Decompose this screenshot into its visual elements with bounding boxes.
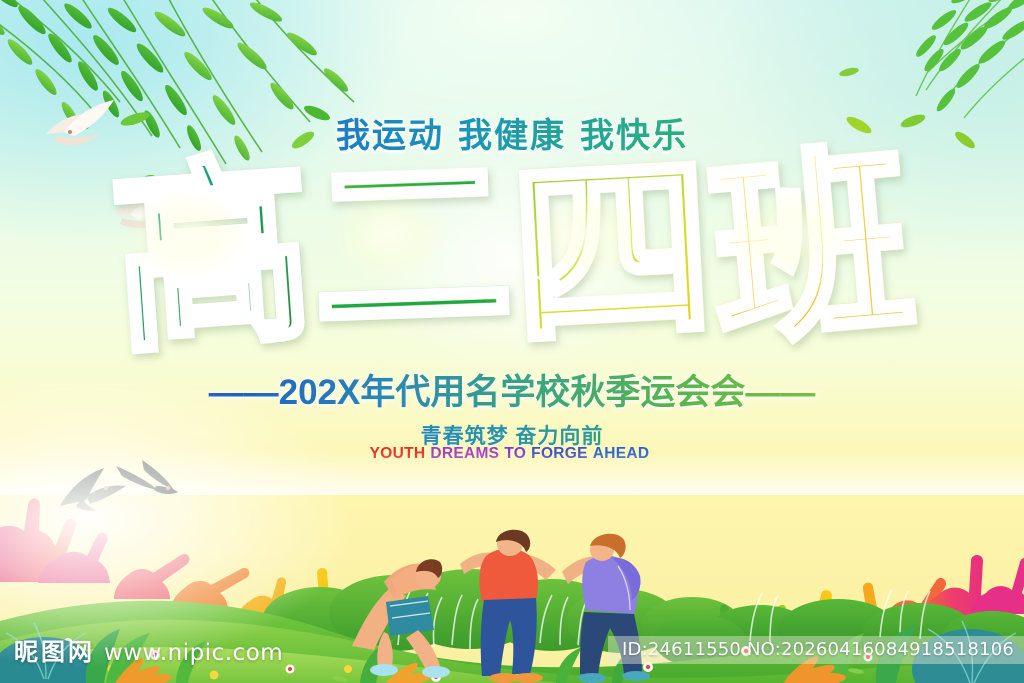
- title-char-2-wrap: 二: [312, 151, 512, 351]
- title-char-2: 二: [308, 143, 515, 350]
- runner-orange: [352, 559, 450, 678]
- runner-red: [460, 530, 556, 683]
- title-char-3: 四: [507, 147, 717, 357]
- runner-figures-group: [340, 528, 670, 683]
- page-title: 高 二 四 班: [0, 143, 1024, 358]
- title-char-4: 班: [704, 140, 921, 357]
- swallow-icon: [112, 452, 192, 504]
- title-char-1: 高: [106, 150, 319, 363]
- runner-purple: [562, 534, 650, 683]
- sports-meet-poster: 我运动我健康我快乐 高 二 四 班 ——202X年代用名学校秋季运会会—— 青春…: [0, 0, 1024, 683]
- title-char-4-wrap: 班: [712, 151, 912, 351]
- title-char-3-wrap: 四: [512, 151, 712, 351]
- title-char-1-wrap: 高: [112, 151, 312, 351]
